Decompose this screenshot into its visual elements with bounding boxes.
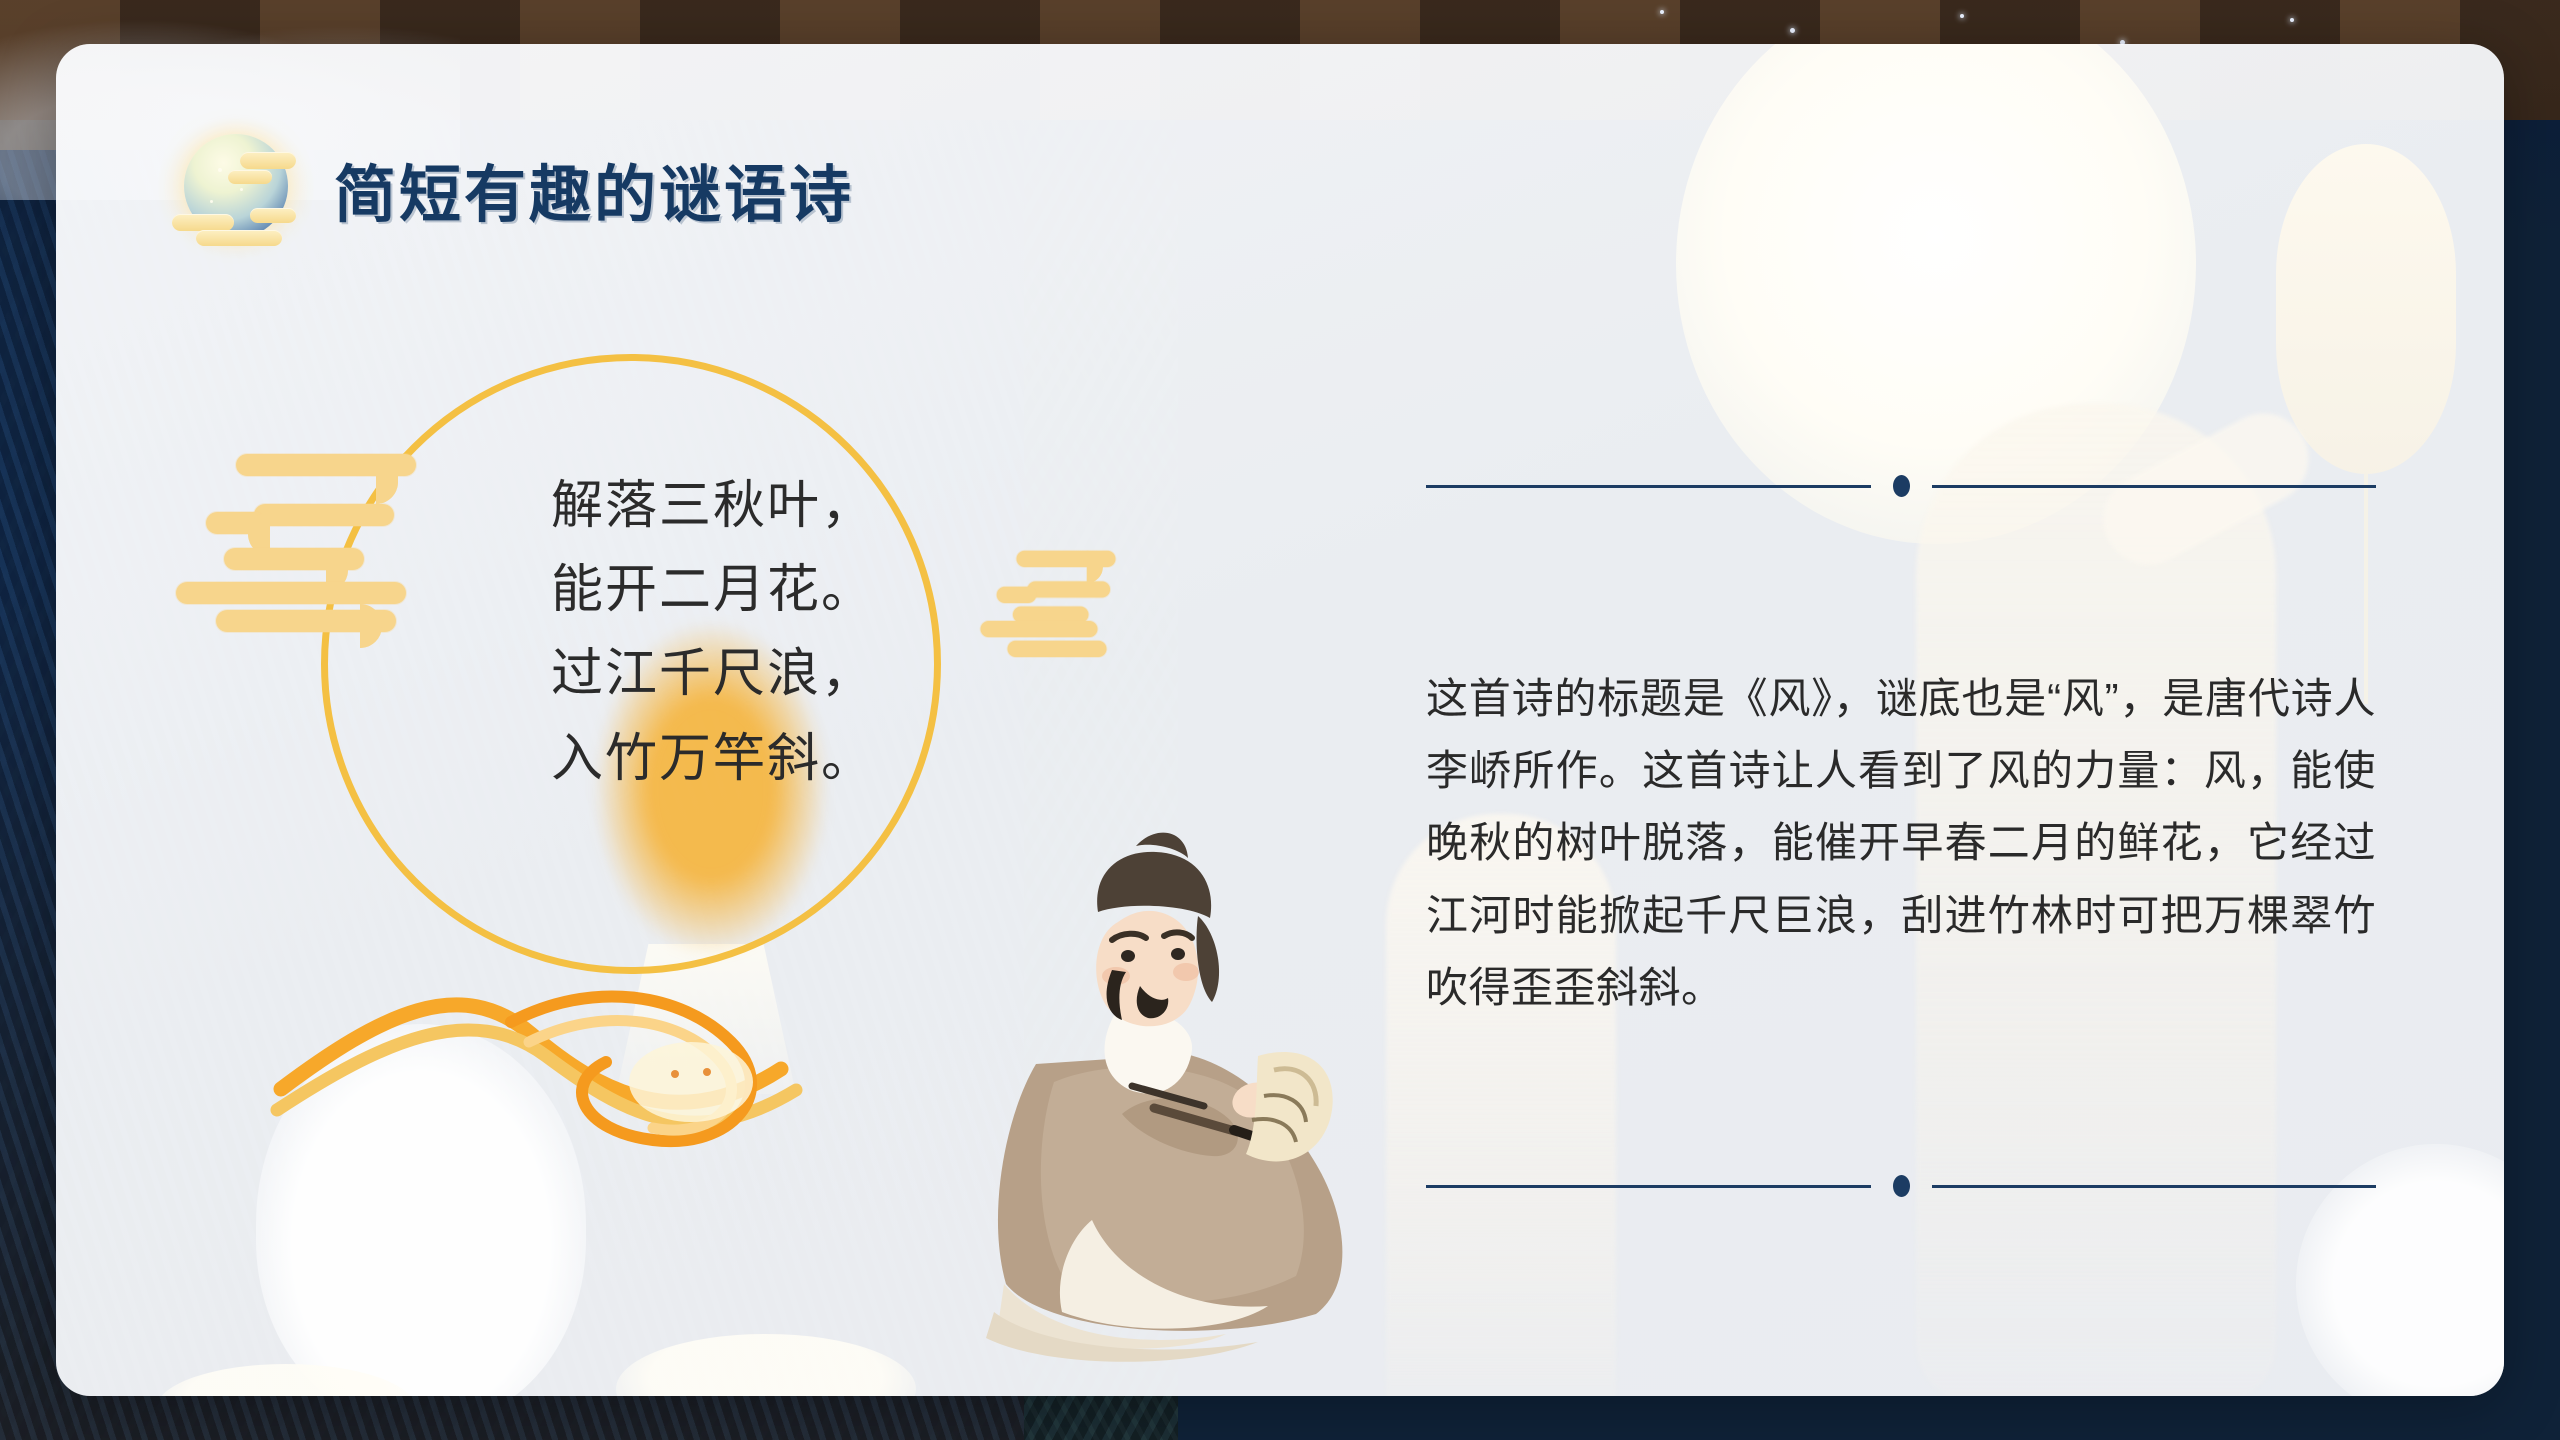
divider-with-dot <box>1426 474 2376 498</box>
explanation-block: 这首诗的标题是《风》，谜底也是“风”，是唐代诗人李峤所作。这首诗让人看到了风的力… <box>1426 474 2376 1198</box>
divider-dot-icon <box>1893 1175 1910 1197</box>
poem-line: 解落三秋叶， <box>551 464 971 548</box>
divider-line-right <box>1932 1185 2377 1188</box>
divider-line-right <box>1932 485 2377 488</box>
star-icon <box>1960 14 1964 18</box>
auspicious-cloud-icon <box>981 551 1152 673</box>
poem-text: 解落三秋叶， 能开二月花。 过江千尺浪， 入竹万竿斜。 <box>551 464 971 801</box>
mooncake-plate-art <box>156 1364 416 1396</box>
poem-line: 入竹万竿斜。 <box>551 717 971 801</box>
auspicious-cloud-icon <box>176 454 466 654</box>
poem-line: 过江千尺浪， <box>551 632 971 716</box>
divider-dot-icon <box>1893 475 1910 497</box>
poem-line: 能开二月花。 <box>551 548 971 632</box>
divider-line-left <box>1426 1185 1871 1188</box>
divider-with-dot <box>1426 1174 2376 1198</box>
star-icon <box>1660 10 1664 14</box>
star-icon <box>1790 28 1795 33</box>
tang-poet-illustration <box>886 814 1406 1374</box>
content-card: 简短有趣的谜语诗 <box>56 44 2504 1396</box>
page-title: 简短有趣的谜语诗 <box>334 144 854 234</box>
page-header: 简短有趣的谜语诗 <box>166 126 854 251</box>
orange-ribbon <box>261 914 881 1204</box>
divider-line-left <box>1426 485 1871 488</box>
explanation-text: 这首诗的标题是《风》，谜底也是“风”，是唐代诗人李峤所作。这首诗让人看到了风的力… <box>1426 663 2376 1024</box>
slide-root: 简短有趣的谜语诗 <box>0 0 2560 1440</box>
full-moon-art <box>1676 44 2196 544</box>
star-icon <box>2290 18 2294 22</box>
moon-cloud-icon <box>166 126 306 251</box>
lantern-art <box>2276 144 2456 474</box>
